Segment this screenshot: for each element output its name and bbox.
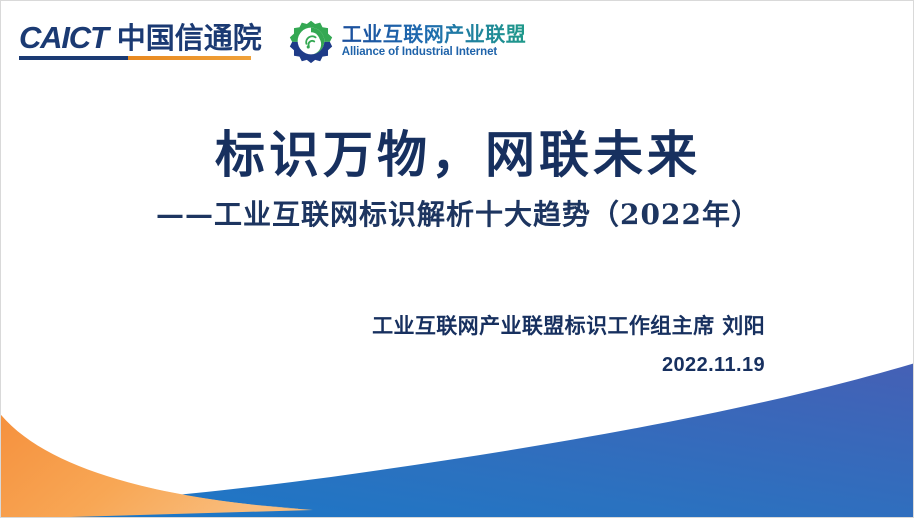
caict-logo: CAICT 中国信通院 bbox=[19, 22, 262, 60]
caict-logo-row: CAICT 中国信通院 bbox=[19, 22, 262, 53]
blue-wave-shape bbox=[1, 363, 914, 518]
caict-wordmark-icon: CAICT bbox=[19, 22, 108, 53]
orange-wave-fill bbox=[1, 415, 313, 518]
decorative-wave-graphics bbox=[1, 1, 914, 518]
gear-wifi-leaf-icon bbox=[288, 18, 334, 64]
presentation-date: 2022.11.19 bbox=[372, 353, 765, 378]
aii-logo: 工业互联网产业联盟 Alliance of Industrial Interne… bbox=[288, 18, 527, 64]
aii-english-name: Alliance of Industrial Internet bbox=[342, 46, 527, 59]
aii-chinese-name: 工业互联网产业联盟 bbox=[342, 24, 527, 45]
presentation-slide: CAICT 中国信通院 bbox=[0, 0, 914, 518]
caict-underline-rule bbox=[19, 56, 251, 60]
caict-chinese-name: 中国信通院 bbox=[117, 24, 262, 53]
presenter-affiliation-and-name: 工业互联网产业联盟标识工作组主席 刘阳 bbox=[372, 313, 765, 339]
title-block: 标识万物，网联未来 ——工业互联网标识解析十大趋势（2022年） bbox=[1, 127, 914, 232]
logo-bar: CAICT 中国信通院 bbox=[19, 15, 526, 67]
presenter-block: 工业互联网产业联盟标识工作组主席 刘阳 2022.11.19 bbox=[372, 313, 765, 378]
aii-text-block: 工业互联网产业联盟 Alliance of Industrial Interne… bbox=[342, 24, 527, 59]
orange-wave-shape bbox=[1, 415, 301, 509]
slide-main-title: 标识万物，网联未来 bbox=[1, 127, 914, 184]
slide-subtitle: ——工业互联网标识解析十大趋势（2022年） bbox=[1, 198, 914, 232]
